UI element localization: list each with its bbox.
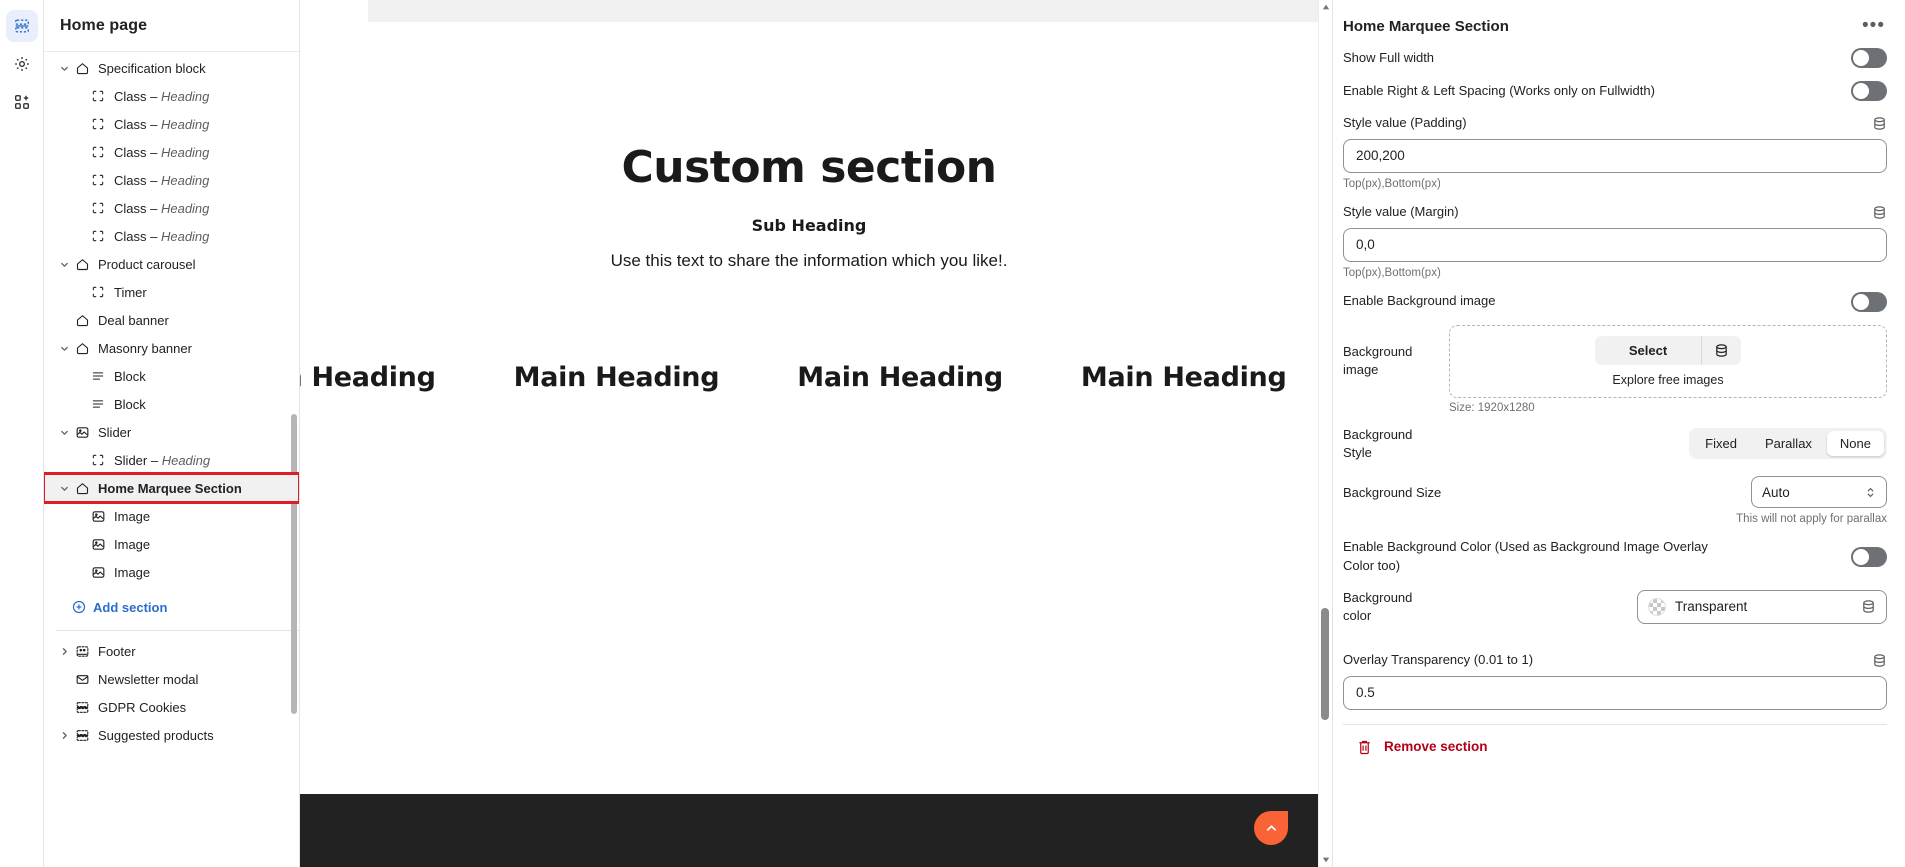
tree-item-label: Class – Heading xyxy=(114,89,209,104)
marquee-item: Main Heading xyxy=(514,362,720,393)
tree-item-label: Slider xyxy=(98,425,131,440)
tree-item-label: Suggested products xyxy=(98,728,214,743)
select-image-group: Select xyxy=(1595,336,1741,365)
block-icon xyxy=(88,229,108,243)
background-image-dropzone[interactable]: Select Explore free images xyxy=(1449,325,1887,398)
tree-item-home-marquee-section[interactable]: Home Marquee Section xyxy=(44,474,299,502)
tree-item-class[interactable]: Class – Heading xyxy=(44,110,299,138)
padding-database-icon[interactable] xyxy=(1872,116,1887,131)
scrollbar-up-arrow[interactable] xyxy=(1319,0,1332,14)
tree-item-label: GDPR Cookies xyxy=(98,700,186,715)
background-size-hint: This will not apply for parallax xyxy=(1343,513,1887,525)
block-icon xyxy=(88,89,108,103)
footer-icon xyxy=(72,644,92,659)
tree-item-specification-block[interactable]: Specification block xyxy=(44,54,299,82)
right-left-spacing-toggle[interactable] xyxy=(1851,81,1887,101)
caret-right-icon[interactable] xyxy=(56,646,72,657)
background-color-field: Background color Transparent xyxy=(1343,589,1887,625)
preview-inner: Custom section Sub Heading Use this text… xyxy=(300,0,1318,867)
overlay-transparency-label: Overlay Transparency (0.01 to 1) xyxy=(1343,651,1533,670)
preview-sub-heading: Sub Heading xyxy=(300,216,1318,235)
overlay-transparency-field: Overlay Transparency (0.01 to 1) xyxy=(1343,651,1887,710)
tree-item-class[interactable]: Class – Heading xyxy=(44,82,299,110)
canvas-scrollbar-thumb[interactable] xyxy=(1321,608,1329,720)
footer-tree: FooterNewsletter modalGDPR CookiesSugges… xyxy=(44,637,299,749)
right-left-spacing-label: Enable Right & Left Spacing (Works only … xyxy=(1343,82,1655,101)
sections-icon[interactable] xyxy=(6,10,38,42)
tree-item-label: Image xyxy=(114,565,150,580)
background-style-label: Background Style xyxy=(1343,426,1435,462)
enable-bg-image-toggle[interactable] xyxy=(1851,292,1887,312)
tree-item-class[interactable]: Class – Heading xyxy=(44,166,299,194)
tree-item-label: Block xyxy=(114,369,146,384)
image-icon xyxy=(88,565,108,580)
enable-bg-image-label: Enable Background image xyxy=(1343,292,1496,311)
tree-item-product-carousel[interactable]: Product carousel xyxy=(44,250,299,278)
preview-placeholder-bar xyxy=(368,0,1318,22)
block-icon xyxy=(88,453,108,467)
background-color-value: Transparent xyxy=(1675,599,1852,614)
inspector-title: Home Marquee Section xyxy=(1343,18,1509,35)
caret-right-icon[interactable] xyxy=(56,730,72,741)
inspector-header: Home Marquee Section ••• xyxy=(1343,0,1887,48)
background-style-segmented: FixedParallaxNone xyxy=(1689,428,1887,459)
background-size-field: Background Size Auto This will not apply… xyxy=(1343,476,1887,525)
cookies-icon xyxy=(72,700,92,715)
tree-item-class[interactable]: Class – Heading xyxy=(44,222,299,250)
tree-item-block[interactable]: Block xyxy=(44,362,299,390)
transparent-swatch-icon xyxy=(1648,598,1666,616)
home-icon xyxy=(72,61,92,76)
add-section-button[interactable]: Add section xyxy=(44,592,299,622)
caret-down-icon[interactable] xyxy=(56,427,72,438)
sidebar-header: Home page xyxy=(44,0,299,52)
section-tree: Specification blockClass – HeadingClass … xyxy=(44,54,299,592)
tree-item-label: Block xyxy=(114,397,146,412)
preview-body-text: Use this text to share the information w… xyxy=(300,251,1318,271)
remove-section-button[interactable]: Remove section xyxy=(1343,725,1887,755)
enable-bg-color-field: Enable Background Color (Used as Backgro… xyxy=(1343,538,1887,576)
marquee-item: Main Heading xyxy=(797,362,1003,393)
preview-dark-band xyxy=(300,794,1318,867)
background-style-option-fixed[interactable]: Fixed xyxy=(1692,431,1750,456)
tree-item-label: Class – Heading xyxy=(114,173,209,188)
caret-down-icon[interactable] xyxy=(56,343,72,354)
tree-item-newsletter-modal[interactable]: Newsletter modal xyxy=(44,665,299,693)
tree-item-label: Image xyxy=(114,537,150,552)
add-section-label: Add section xyxy=(93,600,167,615)
background-size-value: Auto xyxy=(1762,485,1790,500)
tree-item-label: Timer xyxy=(114,285,147,300)
explore-free-images-link[interactable]: Explore free images xyxy=(1612,373,1723,387)
home-icon xyxy=(72,341,92,356)
background-style-field: Background Style FixedParallaxNone xyxy=(1343,426,1887,462)
marquee-item: Main Heading xyxy=(300,362,436,393)
background-color-database-icon[interactable] xyxy=(1861,599,1876,614)
text-lines-icon xyxy=(88,369,108,383)
overlay-transparency-input[interactable] xyxy=(1343,676,1887,710)
tree-item-deal-banner[interactable]: Deal banner xyxy=(44,306,299,334)
select-image-button[interactable]: Select xyxy=(1595,336,1701,365)
image-icon xyxy=(88,537,108,552)
envelope-icon xyxy=(72,672,92,687)
overlay-transparency-database-icon[interactable] xyxy=(1872,653,1887,668)
tree-item-label: Class – Heading xyxy=(114,145,209,160)
background-color-picker[interactable]: Transparent xyxy=(1637,590,1887,624)
home-icon xyxy=(72,313,92,328)
background-image-field: Background image Select Explore free ima… xyxy=(1343,325,1887,398)
show-full-width-toggle[interactable] xyxy=(1851,48,1887,68)
margin-label: Style value (Margin) xyxy=(1343,203,1459,222)
select-image-database-icon[interactable] xyxy=(1702,336,1741,365)
tree-item-class[interactable]: Class – Heading xyxy=(44,138,299,166)
enable-bg-color-toggle[interactable] xyxy=(1851,547,1887,567)
home-icon xyxy=(72,481,92,496)
tree-item-footer[interactable]: Footer xyxy=(44,637,299,665)
tree-item-label: Class – Heading xyxy=(114,229,209,244)
section-tree-scroll[interactable]: Specification blockClass – HeadingClass … xyxy=(44,52,299,867)
trash-icon xyxy=(1357,739,1372,755)
background-style-option-parallax[interactable]: Parallax xyxy=(1752,431,1825,456)
tree-item-slider[interactable]: Slider xyxy=(44,418,299,446)
tree-item-suggested-products[interactable]: Suggested products xyxy=(44,721,299,749)
remove-section-label: Remove section xyxy=(1384,739,1488,754)
padding-field: Style value (Padding) Top(px),Bottom(px) xyxy=(1343,114,1887,190)
tree-item-label: Home Marquee Section xyxy=(98,481,242,496)
show-full-width-label: Show Full width xyxy=(1343,49,1434,68)
block-icon xyxy=(88,285,108,299)
margin-input[interactable] xyxy=(1343,228,1887,262)
background-size-label: Background Size xyxy=(1343,485,1441,500)
right-left-spacing-field: Enable Right & Left Spacing (Works only … xyxy=(1343,81,1887,101)
block-icon xyxy=(88,201,108,215)
tree-item-block[interactable]: Block xyxy=(44,390,299,418)
tree-item-label: Image xyxy=(114,509,150,524)
tree-item-masonry-banner[interactable]: Masonry banner xyxy=(44,334,299,362)
sidebar: Home page Specification blockClass – Hea… xyxy=(44,0,300,867)
tree-item-image[interactable]: Image xyxy=(44,558,299,586)
canvas-scrollbar[interactable] xyxy=(1318,0,1332,867)
padding-label: Style value (Padding) xyxy=(1343,114,1467,133)
add-blocks-icon[interactable] xyxy=(6,86,38,118)
plus-circle-icon xyxy=(72,600,86,614)
more-options-icon[interactable]: ••• xyxy=(1860,16,1887,36)
background-image-size-note: Size: 1920x1280 xyxy=(1449,402,1887,414)
tree-item-image[interactable]: Image xyxy=(44,530,299,558)
icon-rail xyxy=(0,0,44,867)
tree-item-label: Newsletter modal xyxy=(98,672,198,687)
home-icon xyxy=(72,257,92,272)
tree-item-label: Deal banner xyxy=(98,313,169,328)
tree-item-label: Footer xyxy=(98,644,136,659)
margin-field: Style value (Margin) Top(px),Bottom(px) xyxy=(1343,203,1887,279)
tree-item-image[interactable]: Image xyxy=(44,502,299,530)
padding-hint: Top(px),Bottom(px) xyxy=(1343,178,1887,190)
caret-down-icon[interactable] xyxy=(56,63,72,74)
scroll-to-top-button[interactable] xyxy=(1254,811,1288,845)
enable-bg-color-label: Enable Background Color (Used as Backgro… xyxy=(1343,538,1723,576)
margin-database-icon[interactable] xyxy=(1872,205,1887,220)
background-size-select[interactable]: Auto xyxy=(1751,476,1887,508)
sidebar-scrollbar-thumb[interactable] xyxy=(291,414,297,714)
inspector-panel: Home Marquee Section ••• Show Full width… xyxy=(1333,0,1905,867)
background-style-option-none[interactable]: None xyxy=(1827,431,1884,456)
scrollbar-down-arrow[interactable] xyxy=(1319,853,1333,867)
tree-item-slider[interactable]: Slider – Heading xyxy=(44,446,299,474)
preview-marquee: Main HeadingMain HeadingMain HeadingMain… xyxy=(300,349,1318,405)
tree-item-label: Class – Heading xyxy=(114,117,209,132)
caret-down-icon[interactable] xyxy=(56,483,72,494)
caret-down-icon[interactable] xyxy=(56,259,72,270)
tree-item-class[interactable]: Class – Heading xyxy=(44,194,299,222)
image-icon xyxy=(88,509,108,524)
enable-bg-image-field: Enable Background image xyxy=(1343,292,1887,312)
tree-item-timer[interactable]: Timer xyxy=(44,278,299,306)
marquee-item: Main Heading xyxy=(1081,362,1287,393)
tree-item-gdpr-cookies[interactable]: GDPR Cookies xyxy=(44,693,299,721)
block-icon xyxy=(88,173,108,187)
background-image-label: Background image xyxy=(1343,343,1435,379)
tree-item-label: Product carousel xyxy=(98,257,196,272)
tree-item-label: Specification block xyxy=(98,61,206,76)
chevron-updown-icon xyxy=(1865,486,1876,499)
tree-item-label: Class – Heading xyxy=(114,201,209,216)
preview-custom-title: Custom section xyxy=(300,142,1318,193)
settings-gear-icon[interactable] xyxy=(6,48,38,80)
page-title: Home page xyxy=(60,17,147,35)
image-icon xyxy=(72,425,92,440)
block-icon xyxy=(88,145,108,159)
chevron-up-icon xyxy=(1264,821,1279,836)
background-color-label: Background color xyxy=(1343,589,1435,625)
app-root: Home page Specification blockClass – Hea… xyxy=(0,0,1905,867)
tree-divider xyxy=(56,630,299,631)
padding-input[interactable] xyxy=(1343,139,1887,173)
text-lines-icon xyxy=(88,397,108,411)
show-full-width-field: Show Full width xyxy=(1343,48,1887,68)
block-icon xyxy=(88,117,108,131)
products-icon xyxy=(72,728,92,743)
margin-hint: Top(px),Bottom(px) xyxy=(1343,267,1887,279)
tree-item-label: Masonry banner xyxy=(98,341,192,356)
tree-item-label: Slider – Heading xyxy=(114,453,210,468)
preview-canvas: Custom section Sub Heading Use this text… xyxy=(300,0,1333,867)
